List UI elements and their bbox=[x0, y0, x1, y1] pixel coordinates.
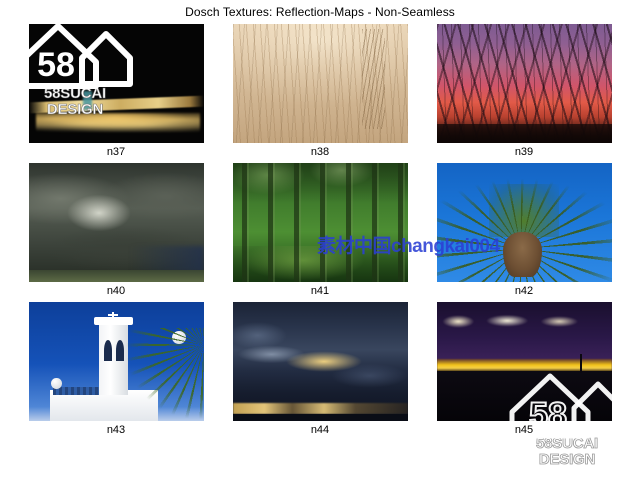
land-silhouette bbox=[437, 371, 612, 421]
thumbnail-image-n44[interactable] bbox=[233, 302, 408, 421]
thumbnail-cell-n45[interactable]: n45 bbox=[422, 302, 626, 441]
thumbnail-caption-n39: n39 bbox=[515, 143, 533, 163]
thumbnail-image-n38[interactable] bbox=[233, 24, 408, 143]
thumbnail-caption-n40: n40 bbox=[107, 282, 125, 302]
light-streak bbox=[29, 96, 204, 113]
thumbnail-image-n42[interactable] bbox=[437, 163, 612, 282]
thumbnail-caption-n41: n41 bbox=[311, 282, 329, 302]
thumbnail-cell-n39[interactable]: n39 bbox=[422, 24, 626, 163]
thumbnail-image-n41[interactable] bbox=[233, 163, 408, 282]
thumbnail-caption-n37: n37 bbox=[107, 143, 125, 163]
thumbnail-image-n39[interactable] bbox=[437, 24, 612, 143]
page-title: Dosch Textures: Reflection-Maps - Non-Se… bbox=[0, 0, 640, 19]
thumbnail-caption-n45: n45 bbox=[515, 421, 533, 441]
ground-silhouette bbox=[437, 124, 612, 143]
thumbnail-row: n40 n41 n42 bbox=[14, 163, 626, 302]
lit-clouds bbox=[442, 314, 605, 329]
thumbnail-image-wrap[interactable] bbox=[14, 24, 218, 143]
railing-finial bbox=[51, 378, 62, 389]
thumbnail-image-wrap[interactable] bbox=[422, 163, 626, 282]
thumbnail-cell-n42[interactable]: n42 bbox=[422, 163, 626, 302]
thumbnail-image-n43[interactable] bbox=[29, 302, 204, 421]
thumbnail-cell-n43[interactable]: n43 bbox=[14, 302, 218, 441]
teal-light bbox=[83, 91, 92, 110]
thumbnail-caption-n44: n44 bbox=[311, 421, 329, 441]
horizon-silhouette bbox=[233, 414, 408, 421]
thumbnail-cell-n38[interactable]: n38 bbox=[218, 24, 422, 163]
horizon-strip bbox=[29, 270, 204, 282]
thumbnail-cell-n40[interactable]: n40 bbox=[14, 163, 218, 302]
golden-light-band bbox=[233, 403, 408, 414]
thumbnail-image-wrap[interactable] bbox=[14, 302, 218, 421]
thumbnail-image-wrap[interactable] bbox=[218, 302, 422, 421]
utility-pole bbox=[580, 354, 582, 373]
thumbnail-cell-n44[interactable]: n44 bbox=[218, 302, 422, 441]
thumbnail-caption-n43: n43 bbox=[107, 421, 125, 441]
thumbnail-image-n45[interactable] bbox=[437, 302, 612, 421]
light-cluster bbox=[36, 113, 201, 132]
palm-crown bbox=[503, 232, 542, 277]
thumbnail-image-wrap[interactable] bbox=[422, 24, 626, 143]
thumbnail-sheet: n37 n38 n39 bbox=[14, 24, 626, 441]
thumbnail-image-wrap[interactable] bbox=[218, 163, 422, 282]
thumbnail-image-wrap[interactable] bbox=[14, 163, 218, 282]
thumbnail-image-n40[interactable] bbox=[29, 163, 204, 282]
thumbnail-cell-n41[interactable]: n41 bbox=[218, 163, 422, 302]
thumbnail-image-n37[interactable] bbox=[29, 24, 204, 143]
thumbnail-row: n43 n44 n45 bbox=[14, 302, 626, 441]
tall-grass-plume bbox=[362, 29, 385, 129]
thumbnail-caption-n38: n38 bbox=[311, 143, 329, 163]
palm-fronds bbox=[120, 328, 204, 421]
thumbnail-image-wrap[interactable] bbox=[218, 24, 422, 143]
tree-trunks bbox=[233, 163, 408, 282]
thumbnail-image-wrap[interactable] bbox=[422, 302, 626, 421]
thumbnail-caption-n42: n42 bbox=[515, 282, 533, 302]
thumbnail-row: n37 n38 n39 bbox=[14, 24, 626, 163]
bell-arch-left bbox=[104, 340, 112, 361]
thumbnail-cell-n37[interactable]: n37 bbox=[14, 24, 218, 163]
cross-icon-bar bbox=[108, 314, 118, 316]
blue-haze bbox=[130, 246, 204, 272]
